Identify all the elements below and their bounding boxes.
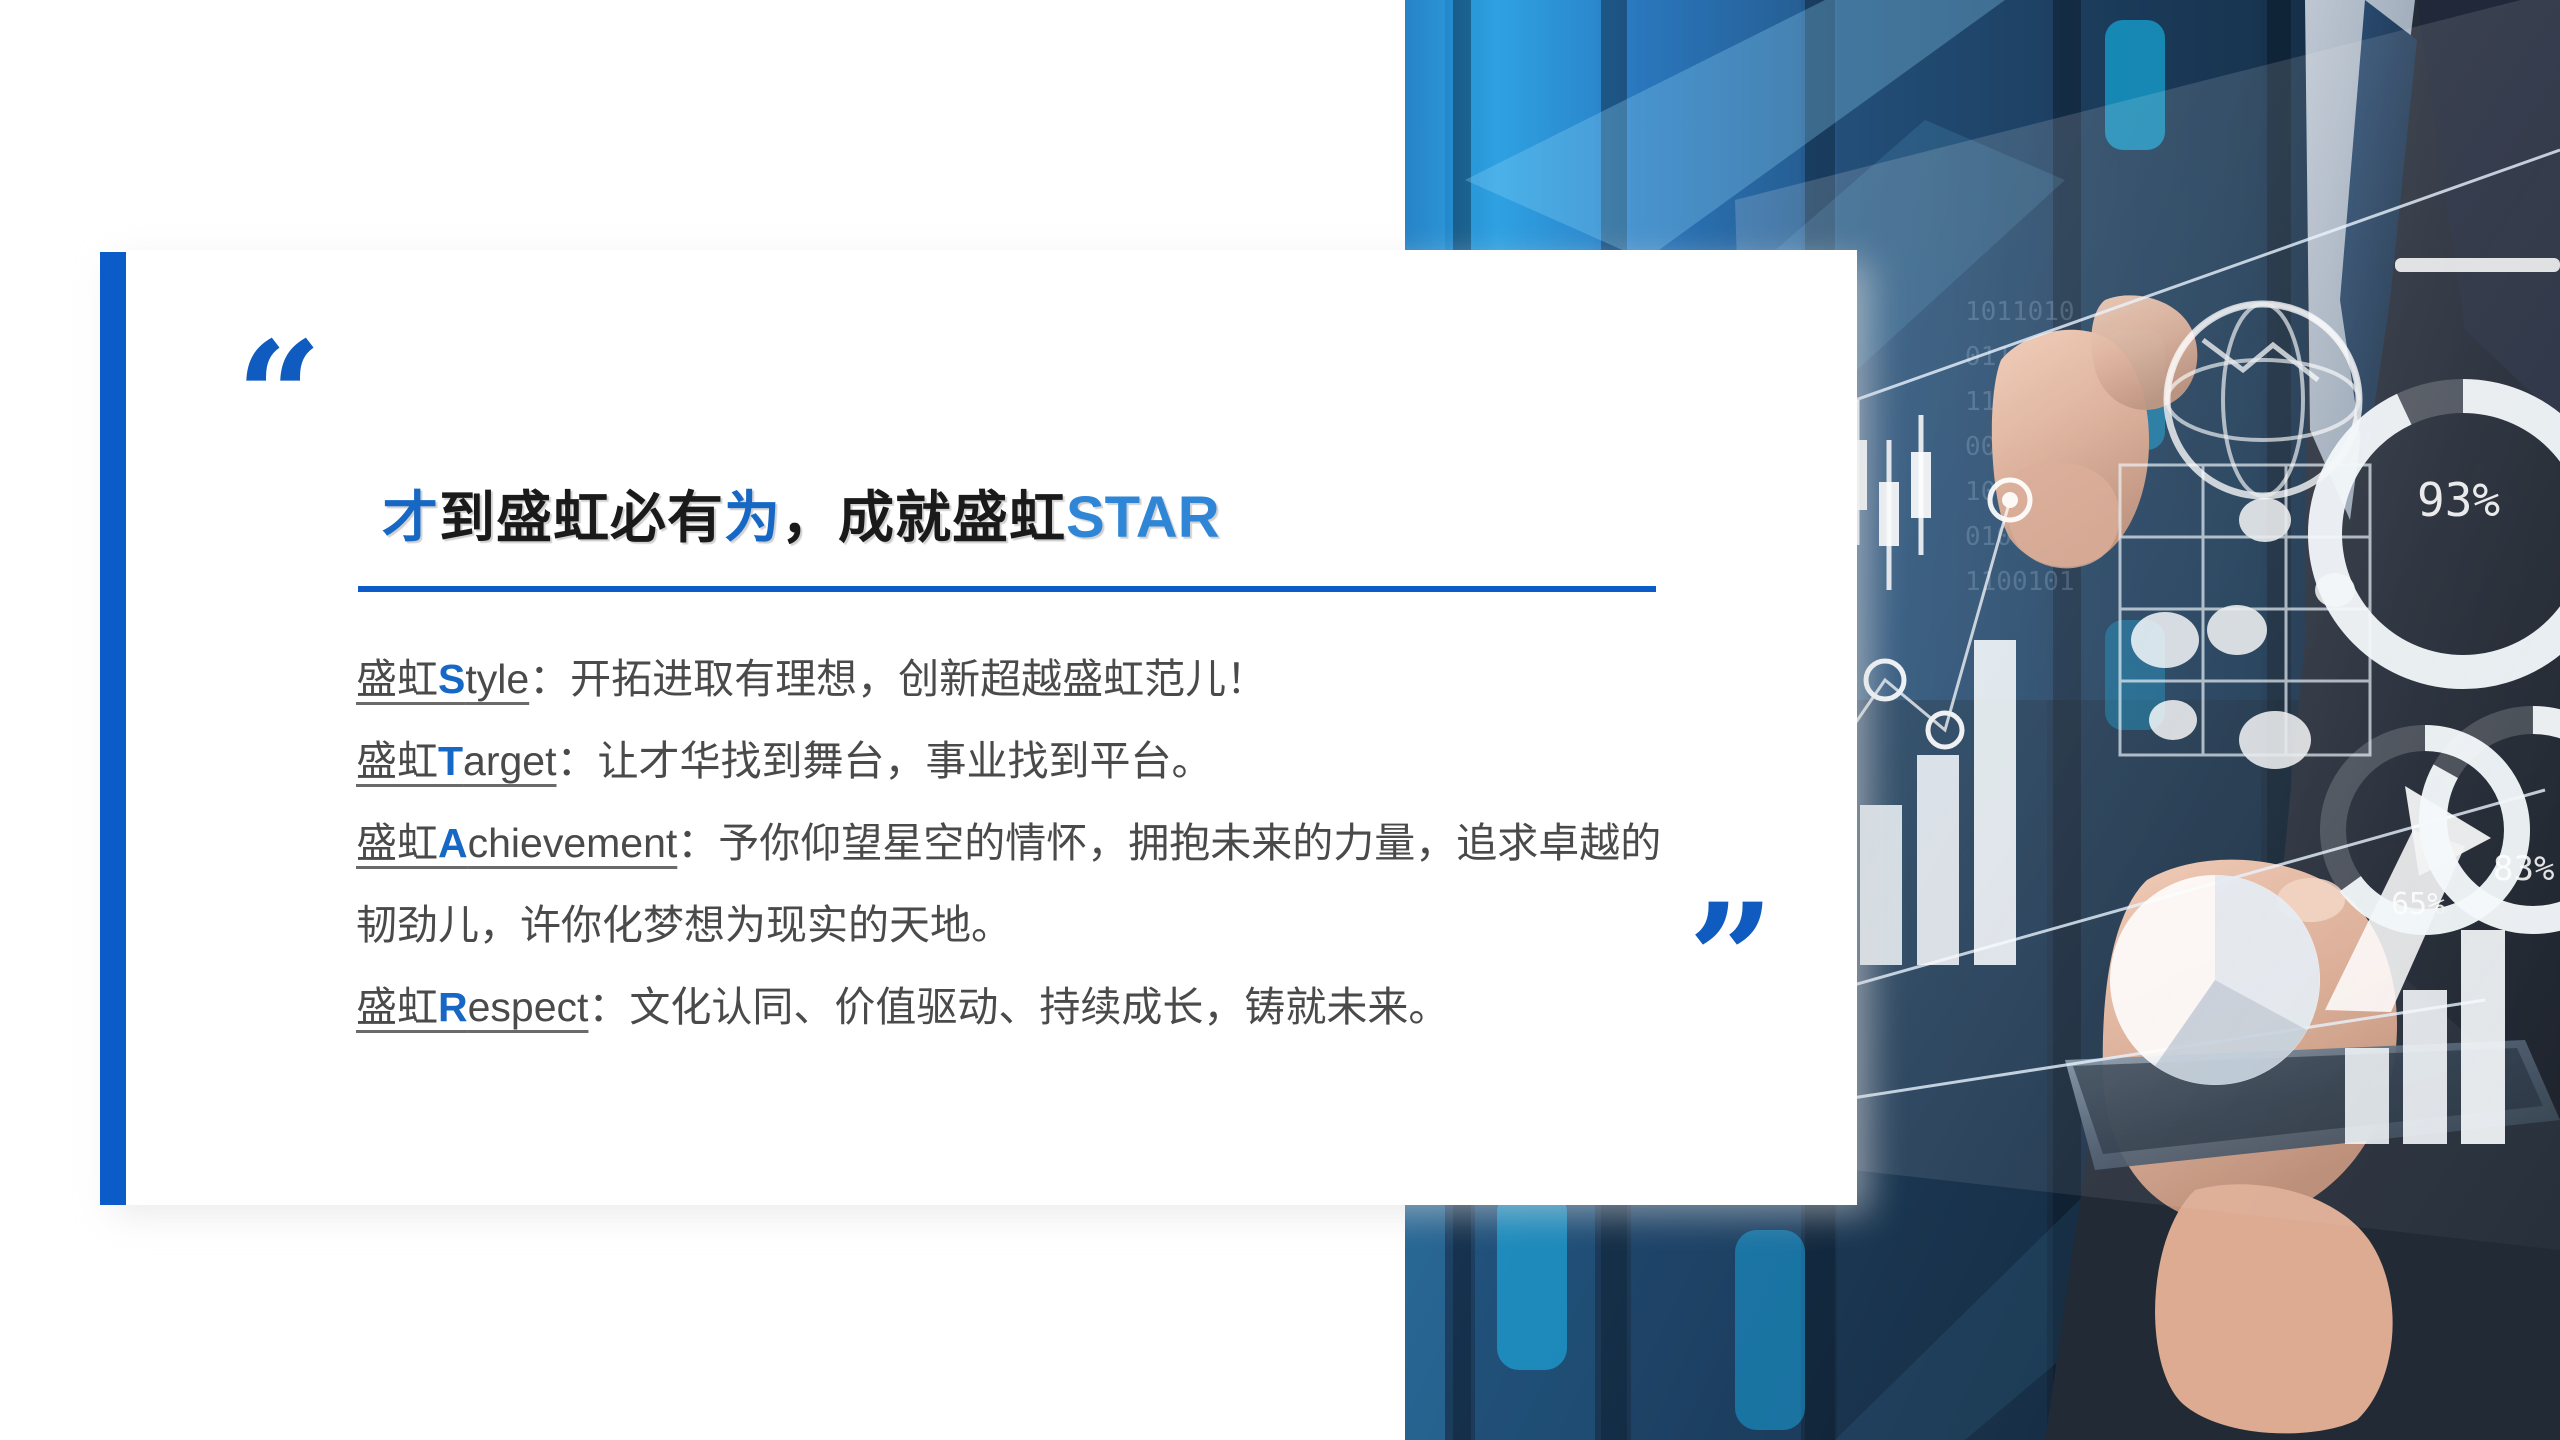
- label-target: 盛虹Target: [356, 738, 557, 784]
- label-achievement-cn: 盛虹: [356, 820, 438, 866]
- body-line-achievement: 盛虹Achievement：予你仰望星空的情怀，拥抱未来的力量，追求卓越的韧劲儿…: [356, 802, 1676, 966]
- title-part-star: STAR: [1066, 485, 1220, 550]
- colon-target: ：: [557, 738, 598, 784]
- slide-root: 01001011010 10110010110 01101001011 1101…: [0, 0, 2560, 1440]
- title-part-cai: 才: [382, 486, 439, 549]
- quote-open-icon: “: [236, 322, 318, 472]
- label-respect-cap: R: [438, 984, 468, 1030]
- body-line-style: 盛虹Style：开拓进取有理想，创新超越盛虹范儿！: [356, 638, 1676, 720]
- accent-bar: [100, 252, 126, 1205]
- title-divider: [358, 586, 1656, 592]
- label-achievement-rest: chievement: [468, 820, 678, 866]
- colon-respect: ：: [588, 984, 629, 1030]
- label-style-rest: tyle: [465, 656, 529, 702]
- label-style-cn: 盛虹: [356, 656, 438, 702]
- body-line-respect: 盛虹Respect：文化认同、价值驱动、持续成长，铸就未来。: [356, 966, 1676, 1048]
- text-style: 开拓进取有理想，创新超越盛虹范儿！: [570, 656, 1267, 702]
- label-target-cn: 盛虹: [356, 738, 438, 784]
- text-respect: 文化认同、价值驱动、持续成长，铸就未来。: [629, 984, 1449, 1030]
- label-target-rest: arget: [463, 738, 556, 784]
- label-style: 盛虹Style: [356, 656, 529, 702]
- body-text-block: 盛虹Style：开拓进取有理想，创新超越盛虹范儿！ 盛虹Target：让才华找到…: [356, 638, 1676, 1048]
- quote-close-icon: ”: [1688, 884, 1770, 1034]
- label-achievement: 盛虹Achievement: [356, 820, 677, 866]
- page-title: 才到盛虹必有为，成就盛虹STAR: [382, 473, 1220, 554]
- label-respect-cn: 盛虹: [356, 984, 438, 1030]
- colon-style: ：: [529, 656, 570, 702]
- title-part-4: ，成就盛虹: [781, 486, 1066, 549]
- label-style-cap: S: [438, 656, 465, 702]
- title-part-2: 到盛虹必有: [439, 486, 724, 549]
- title-part-wei: 为: [724, 486, 781, 549]
- body-line-target: 盛虹Target：让才华找到舞台，事业找到平台。: [356, 720, 1676, 802]
- label-respect: 盛虹Respect: [356, 984, 588, 1030]
- text-target: 让才华找到舞台，事业找到平台。: [598, 738, 1213, 784]
- colon-achievement: ：: [677, 820, 718, 866]
- label-target-cap: T: [438, 738, 463, 784]
- label-respect-rest: espect: [468, 984, 589, 1030]
- label-achievement-cap: A: [438, 820, 468, 866]
